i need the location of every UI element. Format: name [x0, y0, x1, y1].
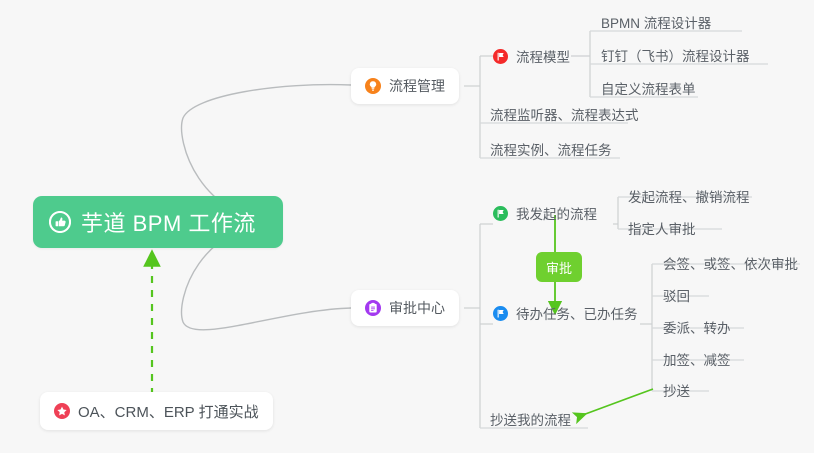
node-process-instance-task[interactable]: 流程实例、流程任务 [490, 136, 612, 162]
node-process-model[interactable]: 流程模型 [493, 43, 570, 69]
node-process-listener-expression[interactable]: 流程监听器、流程表达式 [490, 101, 639, 127]
node-dingtalk-feishu-designer[interactable]: 钉钉（飞书）流程设计器 [601, 42, 750, 68]
mindmap-canvas: 芋道 BPM 工作流 流程管理 流程模型 BPMN 流程设计器 钉钉（飞书）流程… [0, 0, 814, 453]
node-cc-to-me-process[interactable]: 抄送我的流程 [490, 406, 571, 432]
flag-icon [493, 49, 508, 64]
node-bpmn-designer[interactable]: BPMN 流程设计器 [601, 9, 711, 35]
node-process-management-label: 流程管理 [389, 76, 445, 96]
node-process-management[interactable]: 流程管理 [351, 68, 459, 104]
node-assignee-approval-label: 指定人审批 [628, 218, 696, 238]
node-bpmn-designer-label: BPMN 流程设计器 [601, 12, 711, 32]
node-cc-to-me-process-label: 抄送我的流程 [490, 409, 571, 429]
node-approval-center[interactable]: 审批中心 [351, 290, 459, 326]
node-reject-label: 驳回 [663, 285, 690, 305]
node-todo-done-tasks[interactable]: 待办任务、已办任务 [493, 300, 638, 326]
node-process-model-label: 流程模型 [516, 46, 570, 66]
clipboard-icon [365, 300, 381, 316]
node-process-instance-task-label: 流程实例、流程任务 [490, 139, 612, 159]
node-dingtalk-feishu-designer-label: 钉钉（飞书）流程设计器 [601, 45, 750, 65]
node-cc[interactable]: 抄送 [663, 377, 690, 403]
node-countersign-orsign-sequential-label: 会签、或签、依次审批 [663, 253, 798, 273]
node-custom-process-form-label: 自定义流程表单 [601, 78, 696, 98]
node-start-cancel-process[interactable]: 发起流程、撤销流程 [628, 183, 750, 209]
node-todo-done-tasks-label: 待办任务、已办任务 [516, 303, 638, 323]
root-node[interactable]: 芋道 BPM 工作流 [33, 196, 283, 248]
lightbulb-icon [365, 78, 381, 94]
node-oa-crm-erp-label: OA、CRM、ERP 打通实战 [78, 401, 259, 422]
node-my-initiated-process[interactable]: 我发起的流程 [493, 200, 597, 226]
node-approval-center-label: 审批中心 [389, 298, 445, 318]
node-reject[interactable]: 驳回 [663, 282, 690, 308]
node-assignee-approval[interactable]: 指定人审批 [628, 215, 696, 241]
node-custom-process-form[interactable]: 自定义流程表单 [601, 75, 696, 101]
node-oa-crm-erp[interactable]: OA、CRM、ERP 打通实战 [40, 392, 273, 430]
node-delegate-transfer-label: 委派、转办 [663, 317, 731, 337]
flag-icon [493, 306, 508, 321]
approval-tag[interactable]: 审批 [536, 252, 582, 282]
thumbs-up-icon [49, 211, 71, 233]
node-add-remove-sign[interactable]: 加签、减签 [663, 346, 731, 372]
star-icon [54, 403, 70, 419]
node-countersign-orsign-sequential[interactable]: 会签、或签、依次审批 [663, 250, 798, 276]
approval-tag-label: 审批 [546, 258, 572, 277]
node-add-remove-sign-label: 加签、减签 [663, 349, 731, 369]
node-my-initiated-process-label: 我发起的流程 [516, 203, 597, 223]
node-delegate-transfer[interactable]: 委派、转办 [663, 314, 731, 340]
node-cc-label: 抄送 [663, 380, 690, 400]
root-label: 芋道 BPM 工作流 [81, 206, 256, 238]
node-start-cancel-process-label: 发起流程、撤销流程 [628, 186, 750, 206]
arrow-cc-to-ccme [580, 389, 653, 416]
flag-icon [493, 206, 508, 221]
node-process-listener-expression-label: 流程监听器、流程表达式 [490, 104, 639, 124]
